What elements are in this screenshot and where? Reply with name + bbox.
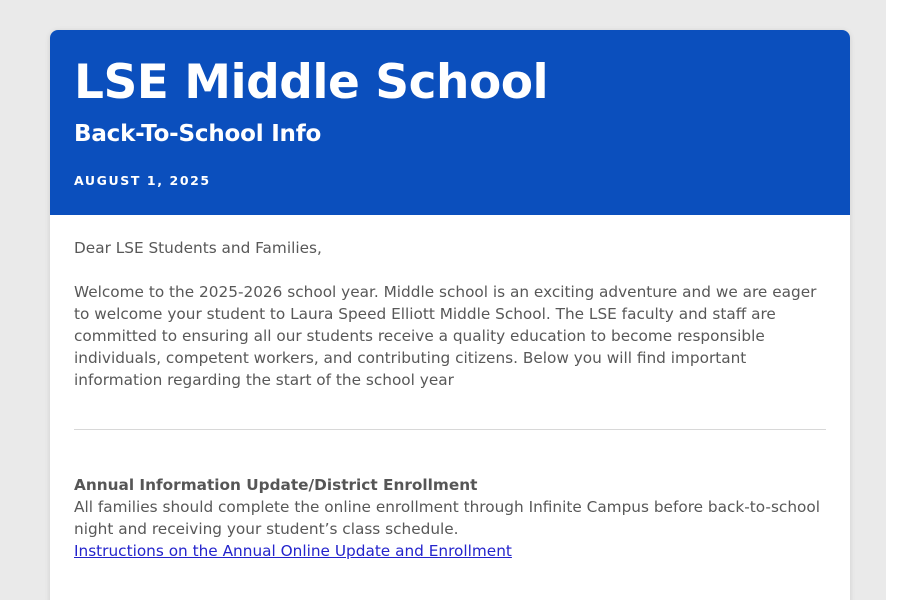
- newsletter-card: LSE Middle School Back-To-School Info AU…: [50, 30, 850, 600]
- newsletter-header: LSE Middle School Back-To-School Info AU…: [50, 30, 850, 215]
- newsletter-body: Dear LSE Students and Families, Welcome …: [50, 215, 850, 592]
- screenshot-viewport: LSE Middle School Back-To-School Info AU…: [0, 0, 900, 600]
- page-title: LSE Middle School: [74, 58, 826, 107]
- section-body-text: All families should complete the online …: [74, 496, 826, 540]
- section-heading: Annual Information Update/District Enrol…: [74, 474, 826, 496]
- enrollment-instructions-link[interactable]: Instructions on the Annual Online Update…: [74, 540, 512, 562]
- salutation-text: Dear LSE Students and Families,: [74, 237, 826, 259]
- section-divider: [74, 429, 826, 430]
- page-subtitle: Back-To-School Info: [74, 121, 826, 149]
- intro-paragraph: Welcome to the 2025-2026 school year. Mi…: [74, 281, 826, 391]
- publish-date: AUGUST 1, 2025: [74, 173, 826, 188]
- section-enrollment: Annual Information Update/District Enrol…: [74, 474, 826, 562]
- scrollbar-gutter[interactable]: [886, 0, 900, 600]
